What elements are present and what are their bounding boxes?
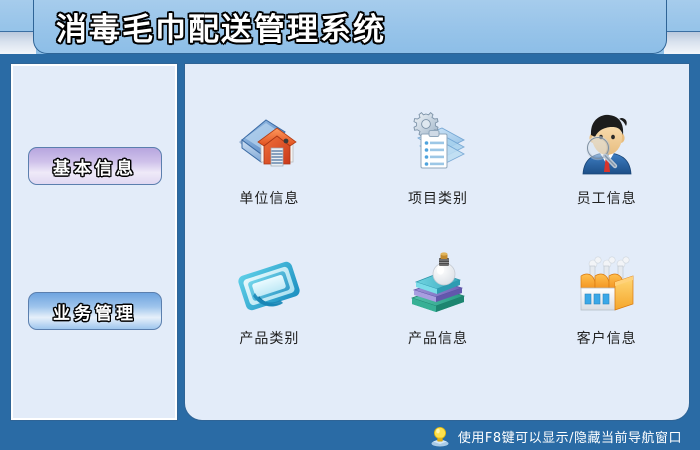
module-customer-info[interactable]: 客户信息: [547, 248, 667, 388]
header-left-strip: [0, 31, 36, 54]
module-label: 产品类别: [239, 328, 299, 348]
lightbulb-icon: [430, 425, 450, 447]
status-bar: 使用F8键可以显示/隐藏当前导航窗口: [0, 422, 700, 450]
page-title: 消毒毛巾配送管理系统: [56, 4, 386, 49]
project-category-icon: [402, 108, 474, 180]
sidebar-item-label: 基本信息: [53, 154, 137, 179]
module-employee-info[interactable]: 员工信息: [547, 108, 667, 248]
workspace: 基本信息 业务管理: [0, 54, 700, 450]
module-product-category[interactable]: 产品类别: [209, 248, 329, 388]
application-window: 消毒毛巾配送管理系统 基本信息 业务管理: [0, 0, 700, 450]
module-icon-grid: 单位信息: [185, 108, 691, 388]
module-label: 产品信息: [408, 328, 468, 348]
title-header: 消毒毛巾配送管理系统: [0, 0, 700, 55]
module-label: 客户信息: [577, 328, 637, 348]
unit-info-icon: [233, 108, 305, 180]
customer-info-icon: [571, 248, 643, 320]
sidebar-item-business-management[interactable]: 业务管理: [28, 292, 162, 330]
module-unit-info[interactable]: 单位信息: [209, 108, 329, 248]
module-project-category[interactable]: 项目类别: [378, 108, 498, 248]
sidebar-item-label: 业务管理: [53, 299, 137, 324]
sidebar-item-basic-info[interactable]: 基本信息: [28, 147, 162, 185]
module-label: 项目类别: [408, 188, 468, 208]
main-content-panel: 单位信息: [184, 63, 690, 421]
status-hint-group: 使用F8键可以显示/隐藏当前导航窗口: [430, 425, 682, 447]
navigation-sidebar: 基本信息 业务管理: [10, 63, 178, 421]
product-info-icon: [402, 248, 474, 320]
product-category-icon: [233, 248, 305, 320]
title-tab: 消毒毛巾配送管理系统: [33, 0, 667, 54]
status-hint-text: 使用F8键可以显示/隐藏当前导航窗口: [458, 427, 682, 446]
header-right-strip: [664, 31, 700, 54]
module-label: 员工信息: [577, 188, 637, 208]
module-label: 单位信息: [239, 188, 299, 208]
module-product-info[interactable]: 产品信息: [378, 248, 498, 388]
employee-info-icon: [571, 108, 643, 180]
